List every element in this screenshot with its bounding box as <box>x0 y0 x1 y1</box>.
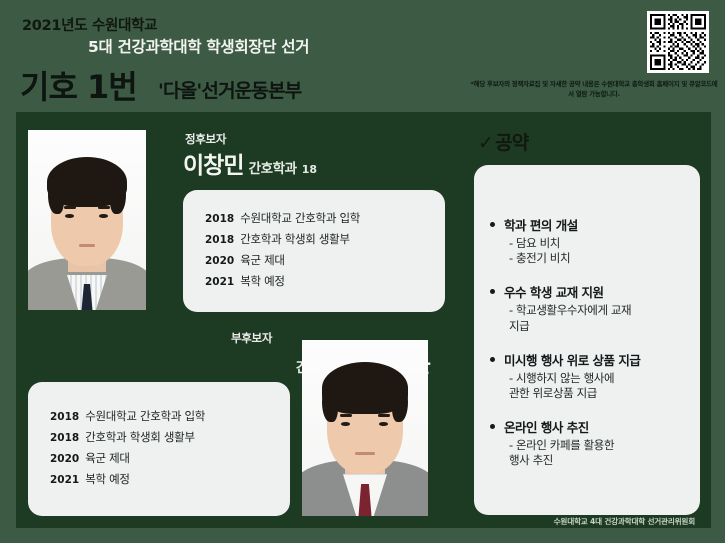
pledge-title: 미시행 행사 위로 상품 지급 <box>504 350 640 369</box>
career-year: 2018 <box>50 411 79 423</box>
career-text: 간호학과 학생회 생활부 <box>240 231 350 247</box>
poster-election-title: 5대 건강과학대학 학생회장단 선거 <box>88 35 309 57</box>
pledge-item: 우수 학생 교재 지원 - 학교생활우수자에게 교재 지급 <box>490 282 690 333</box>
pledge-title-row: 미시행 행사 위로 상품 지급 <box>490 350 690 369</box>
pledge-title: 온라인 행사 추진 <box>504 417 589 436</box>
candidate-number: 기호 1번 <box>20 62 137 108</box>
pledges-card: 학과 편의 개설 - 담요 비치 - 충전기 비치 우수 학생 교재 지원 - … <box>474 165 700 515</box>
career-year: 2020 <box>205 255 234 267</box>
pledge-title-row: 우수 학생 교재 지원 <box>490 282 690 301</box>
qr-code-icon[interactable] <box>647 11 709 73</box>
pledge-details: - 온라인 카페를 활용한 행사 추진 <box>509 438 690 468</box>
career-card-vice: 2018 수원대학교 간호학과 입학 2018 간호학과 학생회 생활부 202… <box>28 382 290 516</box>
career-row: 2020 육군 제대 <box>205 252 360 268</box>
candidate-dept-president: 간호학과 <box>249 161 297 177</box>
pledges-heading-label: 공약 <box>495 132 528 154</box>
career-text: 수원대학교 간호학과 입학 <box>85 408 205 424</box>
candidate-year-president: 18 <box>302 163 317 176</box>
pledge-item: 미시행 행사 위로 상품 지급 - 시행하지 않는 행사에 관한 위로상품 지급 <box>490 350 690 401</box>
career-text: 육군 제대 <box>85 450 129 466</box>
career-year: 2021 <box>50 474 79 486</box>
pledges-heading: ✓공약 <box>478 128 529 155</box>
check-icon: ✓ <box>478 132 493 154</box>
pledge-item: 학과 편의 개설 - 담요 비치 - 충전기 비치 <box>490 215 690 266</box>
qr-disclaimer-note: *해당 후보자의 정책자료집 및 자세한 공약 내용은 수원대학교 총학생회 홈… <box>470 80 718 100</box>
career-text: 복학 예정 <box>85 471 129 487</box>
career-year: 2018 <box>50 432 79 444</box>
candidate-photo-jung <box>302 340 428 516</box>
bullet-icon <box>490 289 495 294</box>
footer-committee: 수원대학교 4대 건강과학대학 선거관리위원회 <box>0 516 711 527</box>
career-text: 육군 제대 <box>240 252 284 268</box>
pledge-details: - 학교생활우수자에게 교재 지급 <box>509 303 690 333</box>
poster-year-university: 2021년도 수원대학교 <box>22 14 157 35</box>
career-row: 2018 수원대학교 간호학과 입학 <box>50 408 205 424</box>
pledge-title-row: 학과 편의 개설 <box>490 215 690 234</box>
pledge-details: - 담요 비치 - 충전기 비치 <box>509 236 690 266</box>
pledge-title: 학과 편의 개설 <box>504 215 578 234</box>
career-row: 2020 육군 제대 <box>50 450 205 466</box>
career-text: 복학 예정 <box>240 273 284 289</box>
bullet-icon <box>490 357 495 362</box>
career-row: 2018 간호학과 학생회 생활부 <box>50 429 205 445</box>
pledge-details: - 시행하지 않는 행사에 관한 위로상품 지급 <box>509 371 690 401</box>
campaign-office-name: '다올'선거운동본부 <box>158 76 301 103</box>
pledge-item: 온라인 행사 추진 - 온라인 카페를 활용한 행사 추진 <box>490 417 690 468</box>
career-row: 2018 수원대학교 간호학과 입학 <box>205 210 360 226</box>
career-text: 수원대학교 간호학과 입학 <box>240 210 360 226</box>
career-row: 2021 복학 예정 <box>205 273 360 289</box>
pledge-title: 우수 학생 교재 지원 <box>504 282 604 301</box>
career-row: 2018 간호학과 학생회 생활부 <box>205 231 360 247</box>
career-card-president: 2018 수원대학교 간호학과 입학 2018 간호학과 학생회 생활부 202… <box>183 190 445 312</box>
candidate-role-president: 정후보자 <box>185 131 226 147</box>
career-list-vice: 2018 수원대학교 간호학과 입학 2018 간호학과 학생회 생활부 202… <box>50 408 205 492</box>
bullet-icon <box>490 424 495 429</box>
career-year: 2018 <box>205 213 234 225</box>
career-year: 2021 <box>205 276 234 288</box>
candidate-photo-lee <box>28 130 146 310</box>
candidate-name-block-president: 이창민 간호학과 18 <box>183 146 317 180</box>
career-list-president: 2018 수원대학교 간호학과 입학 2018 간호학과 학생회 생활부 202… <box>205 210 360 294</box>
candidate-role-vice: 부후보자 <box>231 330 272 346</box>
election-poster: 2021년도 수원대학교 5대 건강과학대학 학생회장단 선거 기호 1번 '다… <box>0 0 725 543</box>
pledge-title-row: 온라인 행사 추진 <box>490 417 690 436</box>
candidate-name-president: 이창민 <box>183 153 243 179</box>
bullet-icon <box>490 222 495 227</box>
career-row: 2021 복학 예정 <box>50 471 205 487</box>
career-year: 2020 <box>50 453 79 465</box>
pledges-list: 학과 편의 개설 - 담요 비치 - 충전기 비치 우수 학생 교재 지원 - … <box>490 215 690 484</box>
career-year: 2018 <box>205 234 234 246</box>
career-text: 간호학과 학생회 생활부 <box>85 429 195 445</box>
